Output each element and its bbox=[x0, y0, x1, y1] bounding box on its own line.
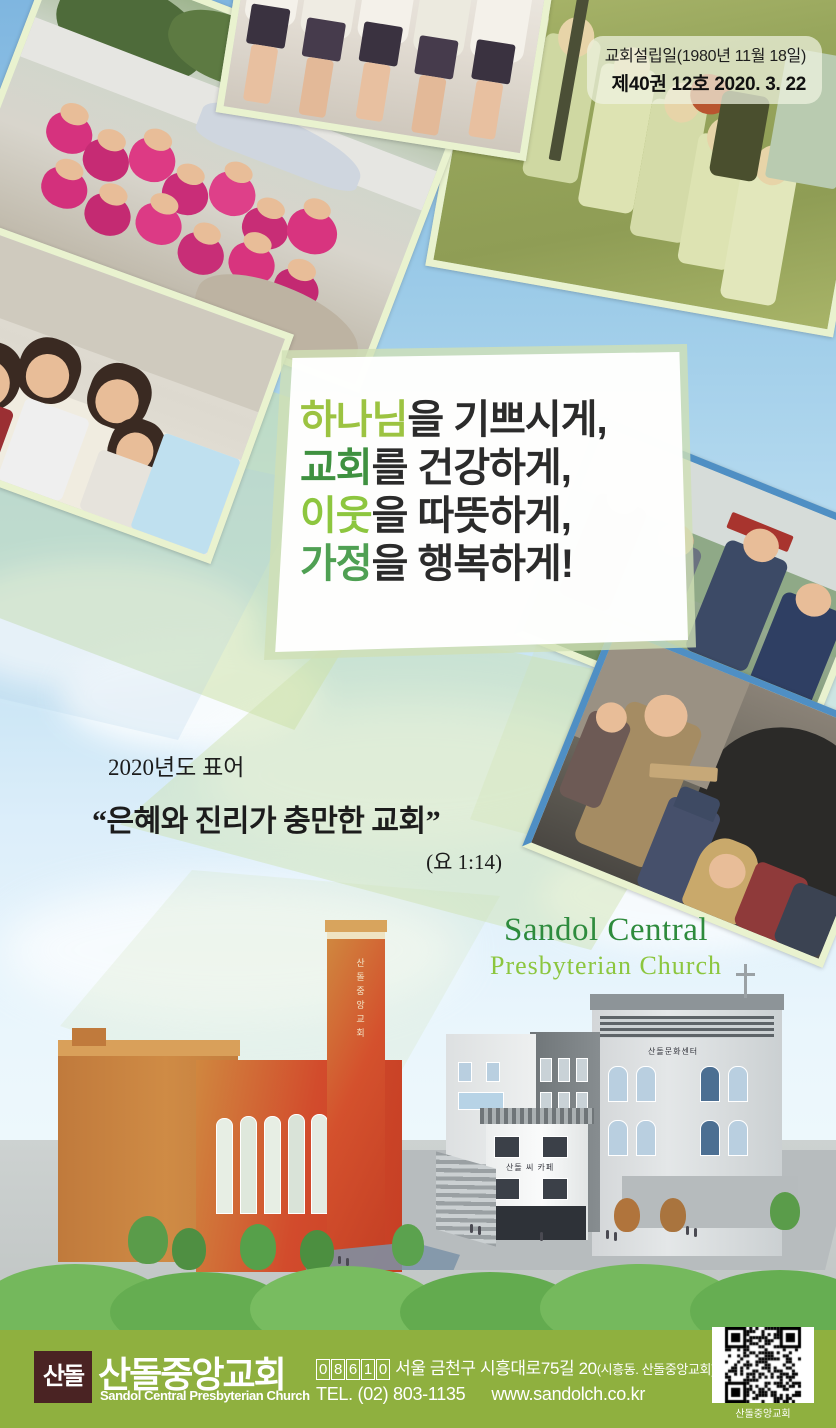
english-name-line2: Presbyterian Church bbox=[466, 951, 746, 981]
pedestrian bbox=[694, 1228, 697, 1237]
culture-center-label: 산돌문화센터 bbox=[648, 1046, 698, 1057]
slogan-line: 하나님을 기쁘시게, bbox=[300, 396, 650, 444]
culture-center-window bbox=[636, 1120, 656, 1156]
white-block-window bbox=[458, 1062, 472, 1082]
white-block-window bbox=[486, 1062, 500, 1082]
website-url[interactable]: www.sandolch.co.kr bbox=[491, 1384, 645, 1404]
qr-code[interactable] bbox=[712, 1327, 814, 1403]
address-main-text: 서울 금천구 시흥대로75길 20 bbox=[395, 1359, 597, 1378]
slogan-highlight: 가정 bbox=[300, 542, 372, 586]
issue-header-badge: 교회설립일(1980년 11월 18일) 제40권 12호 2020. 3. 2… bbox=[587, 36, 822, 104]
grey-block-window bbox=[576, 1058, 588, 1082]
cafe-window bbox=[542, 1136, 568, 1158]
logo-english-name: Sandol Central Presbyterian Church bbox=[100, 1388, 310, 1403]
tree bbox=[240, 1224, 276, 1270]
tree bbox=[614, 1198, 640, 1232]
pedestrian bbox=[606, 1230, 609, 1239]
nave-window bbox=[240, 1116, 257, 1214]
postal-digit: 1 bbox=[361, 1359, 375, 1380]
culture-center-roof bbox=[590, 994, 784, 1010]
grey-block-window bbox=[558, 1058, 570, 1082]
footer-bar: 산돌 산돌중앙교회 Sandol Central Presbyterian Ch… bbox=[0, 1330, 836, 1428]
tree bbox=[172, 1228, 206, 1270]
telephone-text: TEL. (02) 803-1135 bbox=[316, 1384, 465, 1404]
year-motto-block: 2020년도 표어 “은혜와 진리가 충만한 교회” (요 1:14) bbox=[92, 748, 512, 876]
cafe-roof bbox=[480, 1108, 594, 1124]
postal-digit: 0 bbox=[316, 1359, 330, 1380]
tree bbox=[770, 1192, 800, 1230]
tower-cap bbox=[325, 920, 387, 932]
pedestrian bbox=[470, 1224, 473, 1233]
pedestrian bbox=[338, 1256, 341, 1264]
culture-center-window bbox=[700, 1066, 720, 1102]
pedestrian bbox=[686, 1226, 689, 1235]
culture-center-louvers bbox=[600, 1016, 774, 1038]
motto-scripture-reference: (요 1:14) bbox=[92, 846, 512, 876]
slogan-rest: 을 따뜻하게, bbox=[372, 494, 571, 538]
pedestrian bbox=[478, 1226, 481, 1235]
issue-number-text: 제40권 12호 2020. 3. 22 bbox=[605, 69, 806, 96]
address-sub-text: (시흥동. 산돌중앙교회) bbox=[597, 1362, 715, 1377]
tree bbox=[660, 1198, 686, 1232]
tree bbox=[392, 1224, 424, 1266]
culture-center-window bbox=[728, 1066, 748, 1102]
nave-window bbox=[311, 1114, 328, 1214]
culture-center-window bbox=[728, 1120, 748, 1156]
nave-window bbox=[216, 1118, 233, 1214]
slogan-highlight: 하나님 bbox=[300, 398, 407, 442]
slogan-highlight: 교회 bbox=[300, 446, 372, 490]
pedestrian bbox=[346, 1258, 349, 1266]
culture-center-window bbox=[608, 1066, 628, 1102]
postal-digit: 6 bbox=[346, 1359, 360, 1380]
cafe-window bbox=[494, 1136, 520, 1158]
nave-window bbox=[264, 1116, 281, 1214]
cafe-label: 산돌 씨 카페 bbox=[506, 1162, 554, 1173]
church-slogan: 하나님을 기쁘시게, 교회를 건강하게, 이웃을 따뜻하게, 가정을 행복하게! bbox=[300, 396, 650, 588]
english-name-line1: Sandol Central bbox=[466, 912, 746, 949]
contact-line: TEL. (02) 803-1135www.sandolch.co.kr bbox=[316, 1384, 645, 1405]
church-bulletin-cover: 교회설립일(1980년 11월 18일) 제40권 12호 2020. 3. 2… bbox=[0, 0, 836, 1428]
pedestrian bbox=[540, 1232, 543, 1241]
slogan-line: 교회를 건강하게, bbox=[300, 444, 650, 492]
address-line: 08610 서울 금천구 시흥대로75길 20(시흥동. 산돌중앙교회) bbox=[316, 1354, 715, 1380]
church-logo-mark: 산돌 bbox=[34, 1351, 92, 1403]
tower-cap-band bbox=[327, 932, 385, 939]
postal-digit: 0 bbox=[376, 1359, 390, 1380]
logo-mark-text: 산돌 bbox=[34, 1351, 92, 1403]
postal-digit: 8 bbox=[331, 1359, 345, 1380]
grey-block-window bbox=[540, 1058, 552, 1082]
motto-label: 2020년도 표어 bbox=[108, 748, 512, 782]
culture-center-window bbox=[636, 1066, 656, 1102]
qr-caption: 산돌중앙교회 bbox=[712, 1405, 814, 1420]
pedestrian bbox=[614, 1232, 617, 1241]
slogan-rest: 을 행복하게! bbox=[372, 542, 573, 586]
motto-text: “은혜와 진리가 충만한 교회” bbox=[92, 796, 512, 840]
tree bbox=[128, 1216, 168, 1264]
slogan-highlight: 이웃 bbox=[300, 494, 372, 538]
cafe-window bbox=[494, 1178, 520, 1200]
english-church-name: Sandol Central Presbyterian Church bbox=[466, 912, 746, 981]
tower-church-name-text: 산돌중앙교회 bbox=[354, 958, 367, 1138]
slogan-rest: 을 기쁘시게, bbox=[407, 398, 606, 442]
cafe-storefront bbox=[488, 1206, 586, 1240]
culture-center-window bbox=[608, 1120, 628, 1156]
slogan-rest: 를 건강하게, bbox=[372, 446, 571, 490]
slogan-line: 가정을 행복하게! bbox=[300, 540, 650, 588]
annex-parapet bbox=[72, 1028, 106, 1046]
founding-date-text: 교회설립일(1980년 11월 18일) bbox=[605, 42, 806, 66]
cafe-window bbox=[542, 1178, 568, 1200]
nave-window bbox=[288, 1114, 305, 1214]
slogan-line: 이웃을 따뜻하게, bbox=[300, 492, 650, 540]
culture-center-window bbox=[700, 1120, 720, 1156]
